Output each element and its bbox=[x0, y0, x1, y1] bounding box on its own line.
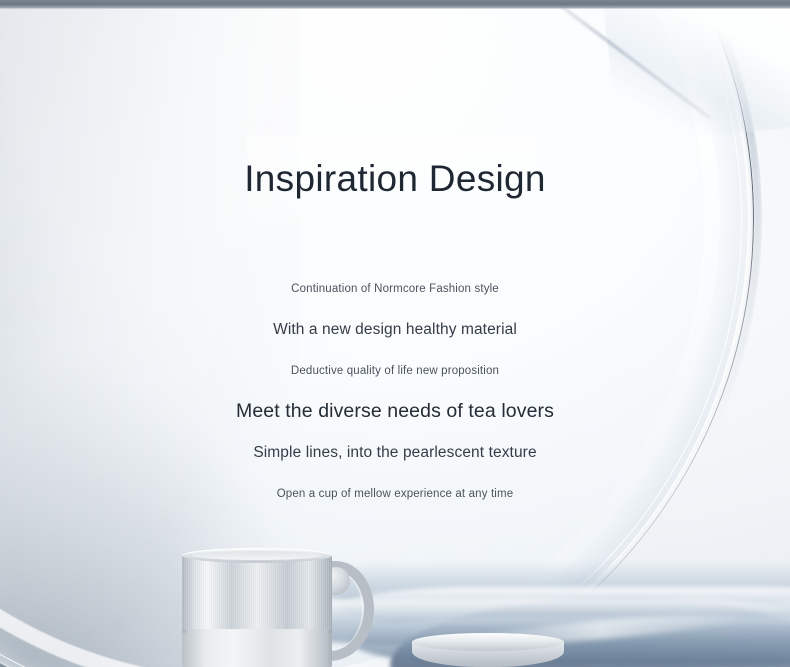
cup-lid-top bbox=[412, 633, 564, 651]
mug-textured-band bbox=[182, 555, 332, 631]
feature-line-3: Deductive quality of life new propositio… bbox=[0, 350, 790, 391]
corner-facet-shape bbox=[603, 0, 790, 146]
feature-line-1: Continuation of Normcore Fashion style bbox=[0, 268, 790, 309]
stainless-steel-mug bbox=[180, 549, 380, 667]
mug-lower-body bbox=[186, 629, 328, 667]
mug-rim-inner bbox=[192, 551, 322, 560]
promo-banner: Inspiration Design Continuation of Normc… bbox=[0, 0, 790, 667]
feature-line-6: Open a cup of mellow experience at any t… bbox=[0, 473, 790, 514]
feature-line-5: Simple lines, into the pearlescent textu… bbox=[0, 432, 790, 473]
feature-line-2: With a new design healthy material bbox=[0, 309, 790, 350]
top-edge-bar bbox=[0, 0, 790, 9]
cup-lid-object bbox=[412, 633, 564, 667]
feature-text-list: Continuation of Normcore Fashion style W… bbox=[0, 268, 790, 514]
page-title: Inspiration Design bbox=[0, 126, 790, 231]
feature-line-4: Meet the diverse needs of tea lovers bbox=[0, 391, 790, 432]
